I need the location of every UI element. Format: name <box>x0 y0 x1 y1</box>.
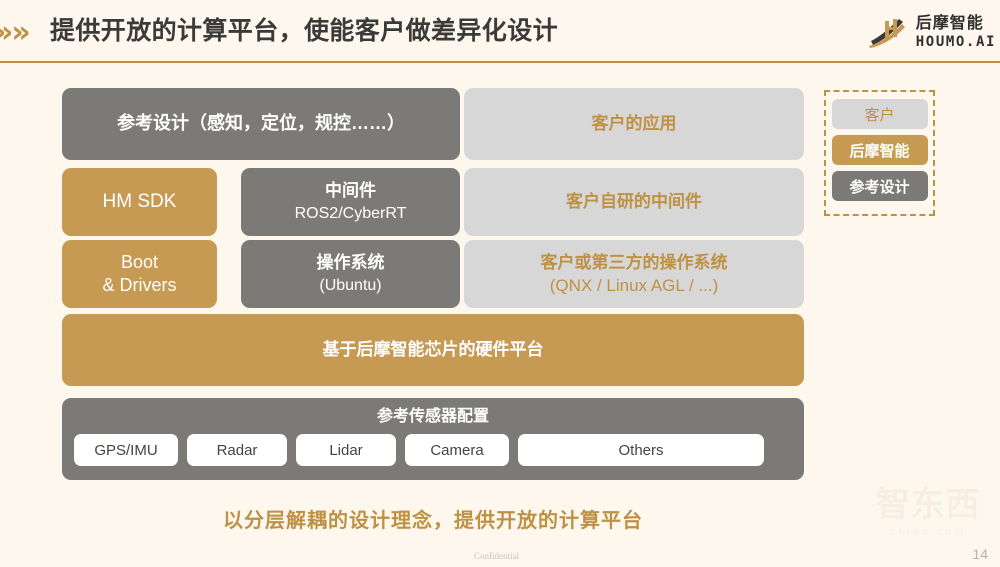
block-operating-system[interactable]: 操作系统 (Ubuntu) <box>241 240 460 308</box>
watermark: 智东西 zhidx.com <box>862 479 994 549</box>
houmo-logo-mark-icon <box>867 15 909 49</box>
slide-header: »» 提供开放的计算平台，使能客户做差异化设计 后摩智能 HOUMO.AI <box>0 0 1000 62</box>
sensor-chip-others[interactable]: Others <box>518 434 764 466</box>
stack-row-middleware: HM SDK 中间件 ROS2/CyberRT 客户自研的中间件 <box>62 168 804 236</box>
block-boot-drivers[interactable]: Boot & Drivers <box>62 240 217 308</box>
block-middleware-subtitle: ROS2/CyberRT <box>295 204 407 224</box>
sensor-chip-lidar[interactable]: Lidar <box>296 434 396 466</box>
block-boot-drivers-line1: Boot <box>121 251 158 274</box>
sensor-chip-gps-imu[interactable]: GPS/IMU <box>74 434 178 466</box>
slide-canvas: »» 提供开放的计算平台，使能客户做差异化设计 后摩智能 HOUMO.AI <box>0 0 1000 567</box>
page-title: 提供开放的计算平台，使能客户做差异化设计 <box>50 14 558 48</box>
block-reference-design-label: 参考设计（感知，定位，规控……） <box>117 112 405 135</box>
footer-confidential-label: Confidential <box>474 551 519 561</box>
watermark-text-cn: 智东西 <box>862 485 994 525</box>
double-chevron-right-icon: »» <box>0 18 29 48</box>
block-customer-middleware[interactable]: 客户自研的中间件 <box>464 168 804 236</box>
block-customer-middleware-label: 客户自研的中间件 <box>566 191 702 213</box>
block-middleware-title: 中间件 <box>325 180 376 202</box>
footer-page-number: 14 <box>972 546 988 562</box>
stack-row-sensors: 参考传感器配置 GPS/IMU Radar Lidar Camera Other… <box>62 398 804 480</box>
block-customer-application[interactable]: 客户的应用 <box>464 88 804 160</box>
block-third-party-os-line2: (QNX / Linux AGL / ...) <box>550 275 718 297</box>
watermark-text-en: zhidx.com <box>862 526 994 538</box>
block-third-party-os[interactable]: 客户或第三方的操作系统 (QNX / Linux AGL / ...) <box>464 240 804 308</box>
block-reference-design[interactable]: 参考设计（感知，定位，规控……） <box>62 88 460 160</box>
brand-name-cn: 后摩智能 <box>916 16 996 32</box>
stack-row-os: Boot & Drivers 操作系统 (Ubuntu) 客户或第三方的操作系统… <box>62 240 804 308</box>
block-boot-drivers-line2: & Drivers <box>102 274 176 297</box>
legend-panel: 客户 后摩智能 参考设计 <box>824 90 935 216</box>
header-divider <box>0 61 1000 63</box>
legend-item-houmo[interactable]: 后摩智能 <box>832 135 928 165</box>
stack-row-application: 参考设计（感知，定位，规控……） 客户的应用 <box>62 88 804 160</box>
legend-item-customer[interactable]: 客户 <box>832 99 928 129</box>
block-hardware-platform[interactable]: 基于后摩智能芯片的硬件平台 <box>62 314 804 386</box>
block-hm-sdk[interactable]: HM SDK <box>62 168 217 236</box>
block-hardware-platform-label: 基于后摩智能芯片的硬件平台 <box>323 339 544 361</box>
slide-tagline: 以分层解耦的设计理念，提供开放的计算平台 <box>0 504 866 533</box>
brand-name-en: HOUMO.AI <box>916 35 996 49</box>
block-sensor-configuration[interactable]: 参考传感器配置 GPS/IMU Radar Lidar Camera Other… <box>62 398 804 480</box>
stack-row-hardware: 基于后摩智能芯片的硬件平台 <box>62 314 804 386</box>
block-hm-sdk-label: HM SDK <box>103 190 177 214</box>
brand-logo-text: 后摩智能 HOUMO.AI <box>916 16 996 49</box>
block-operating-system-title: 操作系统 <box>317 252 385 274</box>
sensor-chip-list: GPS/IMU Radar Lidar Camera Others <box>74 434 792 466</box>
block-third-party-os-line1: 客户或第三方的操作系统 <box>541 252 728 274</box>
brand-logo: 后摩智能 HOUMO.AI <box>867 14 996 50</box>
block-operating-system-subtitle: (Ubuntu) <box>319 276 381 296</box>
sensor-configuration-title: 参考传感器配置 <box>377 407 489 427</box>
sensor-chip-camera[interactable]: Camera <box>405 434 509 466</box>
legend-item-reference-design[interactable]: 参考设计 <box>832 171 928 201</box>
block-middleware[interactable]: 中间件 ROS2/CyberRT <box>241 168 460 236</box>
block-customer-application-label: 客户的应用 <box>592 113 677 135</box>
sensor-chip-radar[interactable]: Radar <box>187 434 287 466</box>
